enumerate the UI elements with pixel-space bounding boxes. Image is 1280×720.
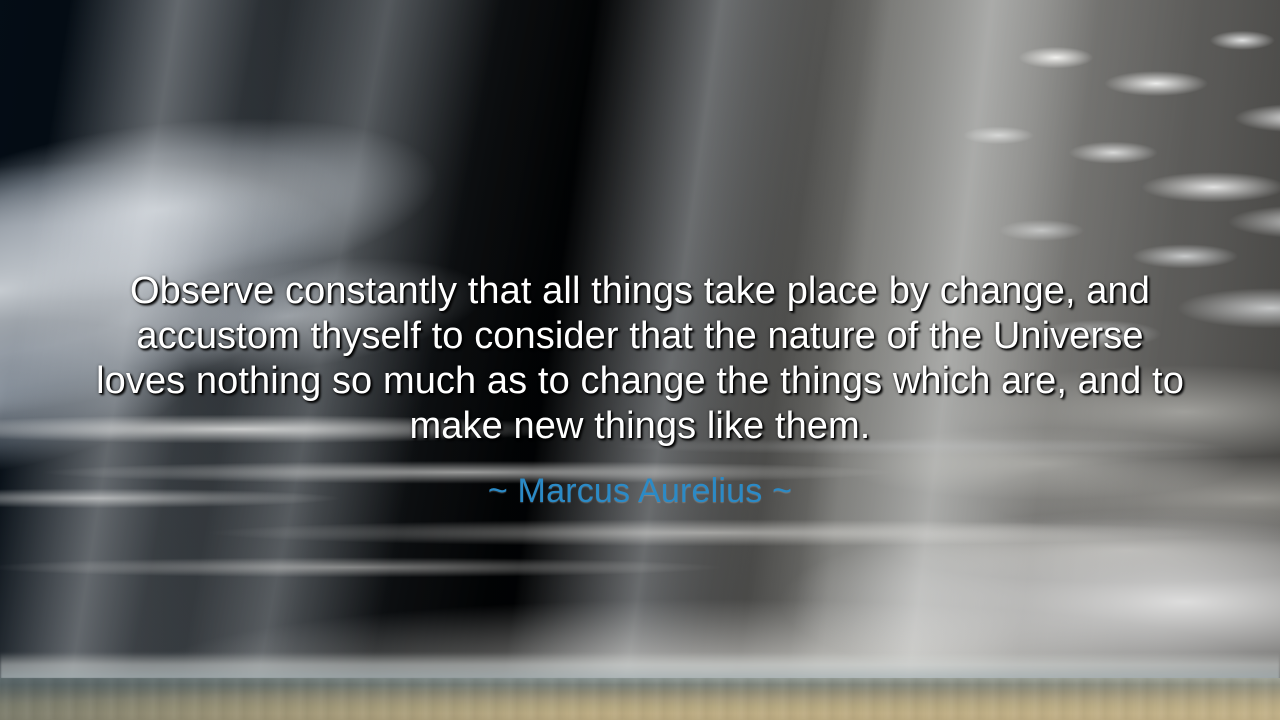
quote-author: ~ Marcus Aurelius ~ [90,471,1190,511]
quote-text: Observe constantly that all things take … [90,269,1190,449]
wallpaper-stage: Observe constantly that all things take … [0,0,1280,720]
ground-texture [0,678,1280,720]
quote-block: Observe constantly that all things take … [90,269,1190,511]
